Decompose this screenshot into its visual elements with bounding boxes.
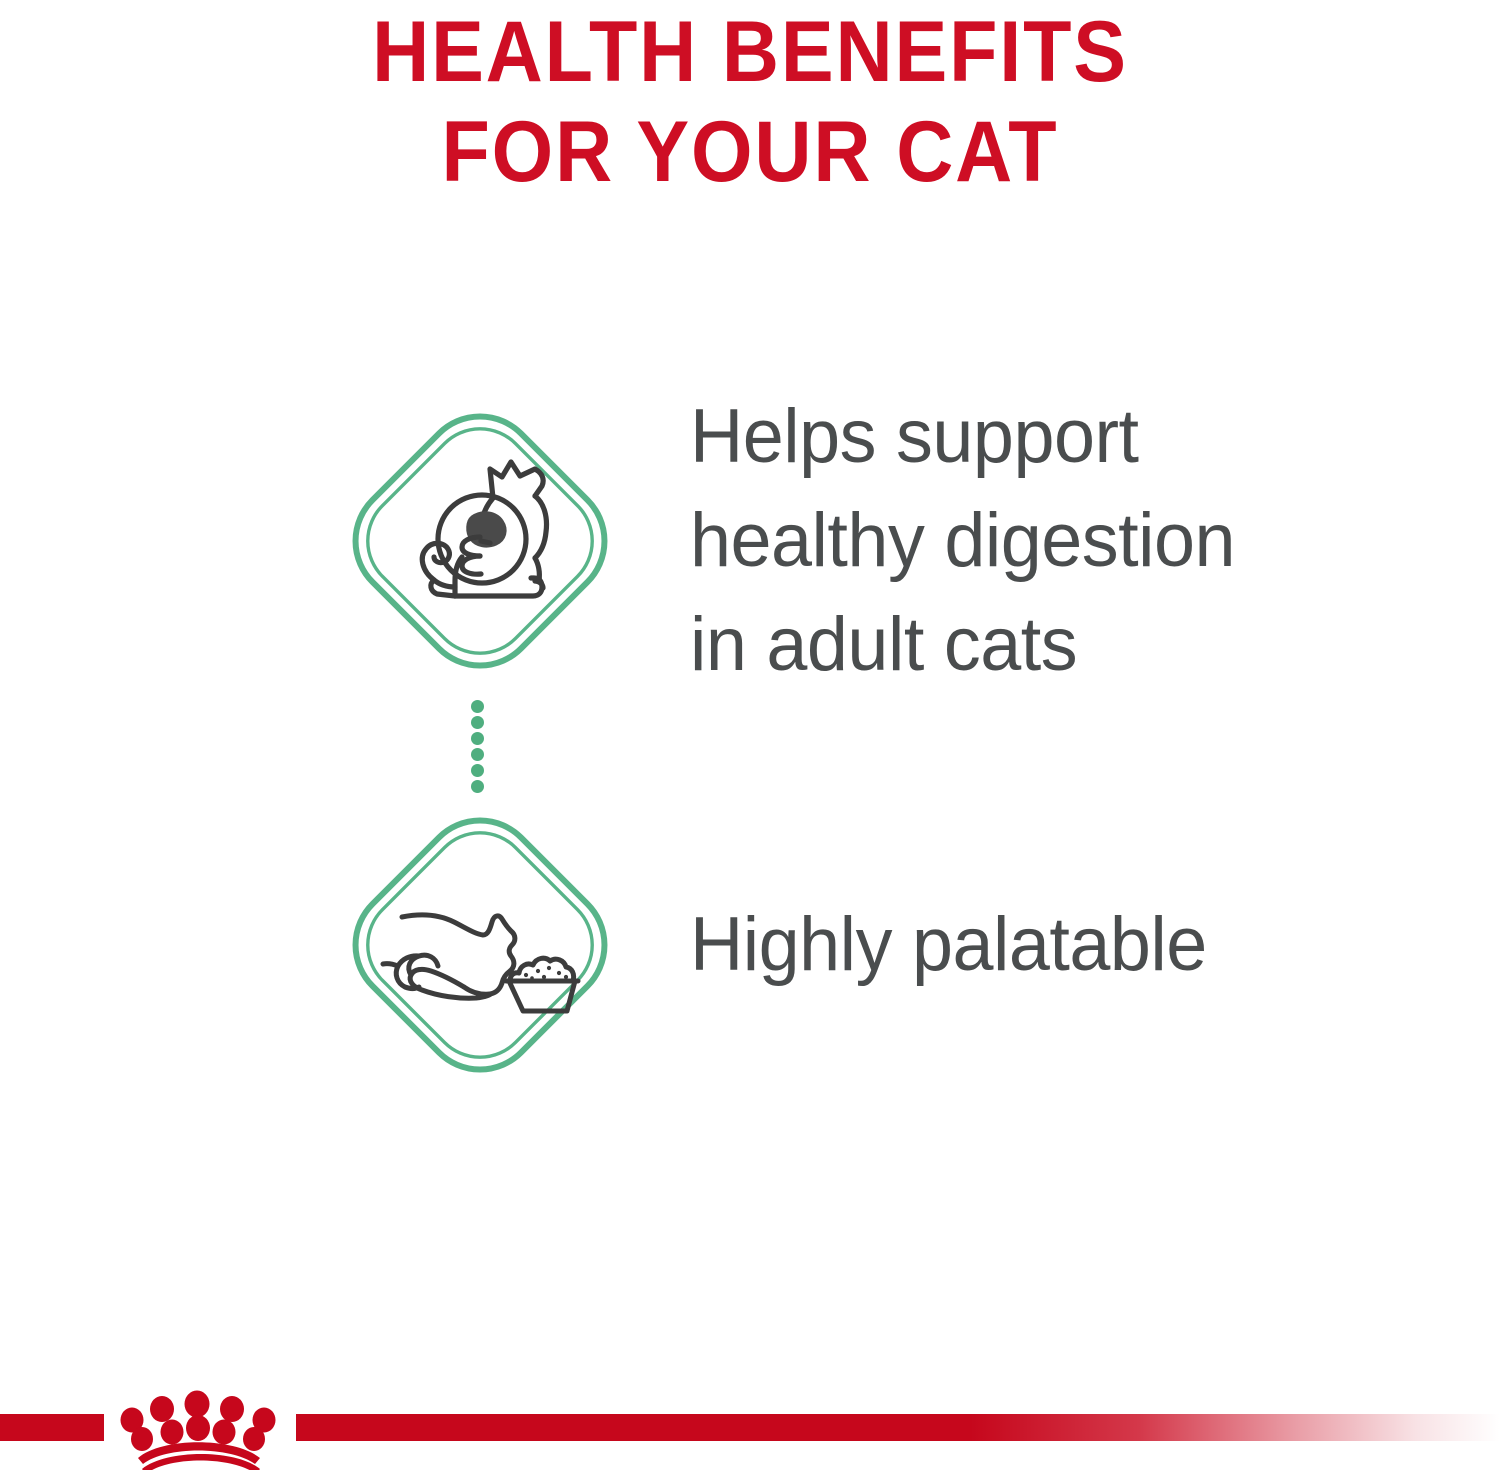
product-benefits-panel: HEALTH BENEFITS FOR YOUR CAT xyxy=(0,0,1500,1470)
benefit-text: Highly palatable xyxy=(690,893,1207,997)
connector-dot xyxy=(471,700,484,713)
page-title-line-2: FOR YOUR CAT xyxy=(60,102,1440,202)
page-title: HEALTH BENEFITS FOR YOUR CAT xyxy=(0,2,1500,202)
connector-dot xyxy=(471,716,484,729)
footer-bar-right-segment xyxy=(296,1414,1500,1441)
benefit-row: Highly palatable xyxy=(330,795,1223,1095)
connector-dot xyxy=(471,780,484,793)
benefit-text: Helps support healthy digestion in adult… xyxy=(690,385,1235,697)
footer-bar-left-segment xyxy=(0,1414,104,1441)
cat-digestion-icon xyxy=(330,391,630,691)
cat-eating-bowl-icon xyxy=(330,795,630,1095)
benefit-row: Helps support healthy digestion in adult… xyxy=(330,385,1252,697)
page-title-line-1: HEALTH BENEFITS xyxy=(60,2,1440,102)
connector-dot xyxy=(471,764,484,777)
connector-dot xyxy=(471,732,484,745)
connector-dot xyxy=(471,748,484,761)
royal-canin-crown-logo xyxy=(110,1382,295,1470)
dotted-connector xyxy=(471,700,491,790)
